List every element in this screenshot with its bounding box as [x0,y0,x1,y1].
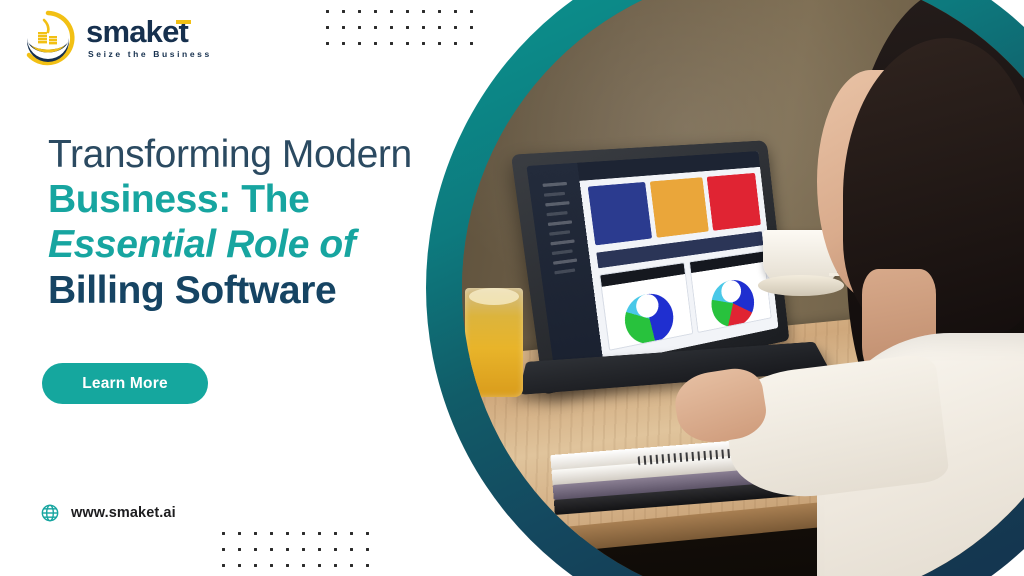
dot [254,564,257,567]
dot [334,548,337,551]
dot [238,548,241,551]
stat-card-blue [588,183,652,246]
dot [422,26,425,29]
brand-logo[interactable]: smaket Seize the Business [18,8,212,68]
logo-tagline: Seize the Business [86,50,212,59]
dot [222,564,225,567]
sidebar-item [545,201,569,206]
coins-in-hand-circle-logo-icon [18,8,78,68]
learn-more-button[interactable]: Learn More [42,363,208,404]
dot [366,548,369,551]
dot [438,10,441,13]
dot [422,42,425,45]
dot [302,548,305,551]
sidebar-item [549,230,570,236]
sidebar-item [553,259,577,265]
stat-card-orange [650,178,709,238]
headline-line-3: Essential Role of [48,222,468,267]
website-link[interactable]: www.smaket.ai [40,503,176,523]
glass-of-juice [465,288,523,397]
donut-chart-right [709,277,756,331]
dot [454,42,457,45]
dot [366,532,369,535]
woman-using-laptop [795,0,1024,576]
dashboard-chart-panels [599,251,771,352]
dot [422,10,425,13]
dot [326,26,329,29]
dot [254,548,257,551]
office-scene [462,0,1024,576]
panel-header [600,263,684,287]
sidebar-item [542,182,566,187]
dot [318,548,321,551]
dot [270,532,273,535]
dot [318,564,321,567]
dot [286,564,289,567]
dot [342,10,345,13]
dot [342,42,345,45]
dot [358,42,361,45]
dot-grid-bottom [222,532,382,576]
dot [350,548,353,551]
dot [342,26,345,29]
dot [222,532,225,535]
dot [286,548,289,551]
dot [390,42,393,45]
sidebar-item [544,192,565,197]
dot [358,26,361,29]
dot [358,10,361,13]
dot [366,564,369,567]
dot [406,10,409,13]
dot [238,532,241,535]
dot [350,532,353,535]
sidebar-item [546,211,567,216]
sidebar-item [552,249,573,255]
dot [374,10,377,13]
dot [302,532,305,535]
dot [438,26,441,29]
sidebar-item [548,220,572,226]
dot [286,532,289,535]
dot [406,42,409,45]
dot [350,564,353,567]
chart-panel-left [599,262,693,351]
dot [334,532,337,535]
dot [390,26,393,29]
dot [302,564,305,567]
dot [270,564,273,567]
logo-wordmark: smaket Seize the Business [86,16,212,61]
headline-line-2: Business: The [48,177,468,222]
logo-name-text: smake [86,14,179,49]
laptop-screen-dashboard [526,151,778,375]
logo-name: smaket [86,16,212,47]
dot [254,532,257,535]
dot [238,564,241,567]
sidebar-item [554,268,575,274]
stat-card-red [707,174,761,232]
hero-photo-circle [462,0,1024,576]
panel-header [690,252,764,274]
page-title: Transforming Modern Business: The Essent… [48,132,468,313]
dot [270,548,273,551]
dot [222,548,225,551]
dot [390,10,393,13]
dot [454,10,457,13]
dot [326,42,329,45]
dot [438,42,441,45]
dot [326,10,329,13]
dot [334,564,337,567]
sidebar-item [550,239,574,245]
globe-icon [40,503,60,523]
dot [454,26,457,29]
website-url: www.smaket.ai [71,505,176,521]
dot [374,26,377,29]
chart-panel-right [689,251,771,334]
dot [318,532,321,535]
dashboard-main [577,151,779,365]
logo-accent-letter: t [179,14,189,49]
headline-line-1: Transforming Modern [48,132,468,177]
dot [406,26,409,29]
headline-line-4: Billing Software [48,268,468,313]
donut-chart-left [622,290,676,348]
dot [374,42,377,45]
